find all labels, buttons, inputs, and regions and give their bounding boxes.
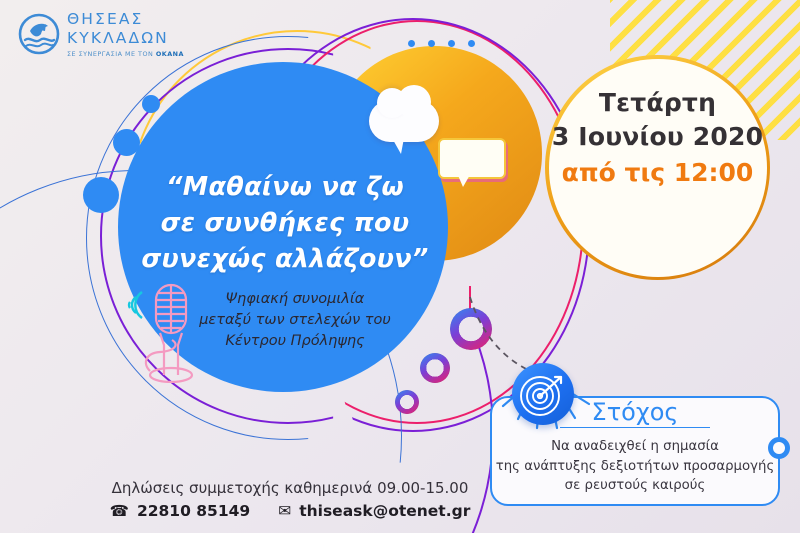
goal-card	[490, 396, 780, 506]
logo-tagline-brand: ΟΚΑΝΑ	[156, 50, 184, 58]
orange-sun-circle	[327, 46, 542, 261]
logo-tagline: ΣΕ ΣΥΝΕΡΓΑΣΙΑ ΜΕ ΤΟΝ ΟΚΑΝΑ	[67, 50, 184, 58]
subtitle-line-2: μεταξύ των στελεχών του	[180, 310, 410, 331]
blue-dot-small	[142, 95, 160, 113]
purple-arc-decoration	[100, 48, 476, 424]
goal-card-side-dot	[768, 437, 790, 459]
blue-arc-decoration	[86, 36, 490, 440]
cloud-speech-bubble-tail	[392, 138, 404, 154]
blue-dot-medium	[113, 129, 140, 156]
target-badge	[512, 363, 574, 425]
date-day: Τετάρτη	[545, 86, 770, 120]
date-badge: Τετάρτη 3 Ιουνίου 2020 από τις 12:00	[545, 86, 770, 192]
mini-dot-3	[448, 40, 455, 47]
organization-logo[interactable]: ΘΗΣΕΑΣ ΚΥΚΛΑΔΩΝ ΣΕ ΣΥΝΕΡΓΑΣΙΑ ΜΕ ΤΟΝ ΟΚΑ…	[18, 10, 184, 58]
registration-info: Δηλώσεις συμμετοχής καθημερινά 09.00-15.…	[95, 478, 485, 499]
goal-line-2: της ανάπτυξης δεξιοτήτων προσαρμογής	[494, 457, 776, 477]
purple-arc-decoration-2	[236, 18, 590, 432]
goal-line-3: σε ρευστούς καιρούς	[494, 476, 776, 496]
subtitle-line-3: Κέντρου Πρόληψης	[180, 331, 410, 352]
email-address[interactable]: thiseask@otenet.gr	[299, 502, 470, 520]
date-time: από τις 12:00	[545, 154, 770, 192]
rectangle-speech-bubble-icon	[438, 138, 506, 179]
gradient-ring-small	[395, 390, 419, 414]
poster-canvas: ΘΗΣΕΑΣ ΚΥΚΛΑΔΩΝ ΣΕ ΣΥΝΕΡΓΑΣΙΑ ΜΕ ΤΟΝ ΟΚΑ…	[0, 0, 800, 533]
large-purple-arc-decoration	[0, 150, 494, 533]
quote-line-3: συνεχώς αλλάζουν”	[140, 241, 430, 277]
blue-mini-dots-row	[408, 40, 475, 47]
blue-dot-large	[83, 177, 119, 213]
main-quote: “Μαθαίνω να ζω σε συνθήκες που συνεχώς α…	[140, 169, 430, 277]
phone-icon: ☎	[110, 502, 129, 520]
pink-arc-decoration	[250, 20, 584, 424]
microphone-icon	[140, 283, 210, 383]
dashed-connector-line	[468, 295, 578, 390]
quote-line-2: σε συνθήκες που	[140, 205, 430, 241]
logo-line-2: ΚΥΚΛΑΔΩΝ	[67, 29, 184, 48]
contact-row: ☎ 22810 85149 ✉ thiseask@otenet.gr	[95, 502, 485, 520]
blue-main-circle	[118, 62, 448, 392]
target-arrow-icon	[512, 363, 574, 425]
mini-dot-4	[468, 40, 475, 47]
quote-line-1: “Μαθαίνω να ζω	[140, 169, 430, 205]
mini-dot-2	[428, 40, 435, 47]
yellow-arc-decoration	[130, 30, 464, 364]
goal-description: Να αναδειχθεί η σημασία της ανάπτυξης δε…	[494, 437, 776, 496]
gradient-ring-medium	[420, 353, 450, 383]
phone-number[interactable]: 22810 85149	[137, 502, 250, 520]
ring-stem-line	[469, 286, 471, 312]
dolphin-wave-logo-icon	[18, 13, 60, 55]
logo-line-1: ΘΗΣΕΑΣ	[67, 10, 184, 29]
logo-tagline-prefix: ΣΕ ΣΥΝΕΡΓΑΣΙΑ ΜΕ ΤΟΝ	[67, 50, 156, 58]
goal-line-1: Να αναδειχθεί η σημασία	[494, 437, 776, 457]
gradient-ring-large	[450, 308, 492, 350]
event-subtitle: Ψηφιακή συνομιλία μεταξύ των στελεχών το…	[180, 289, 410, 352]
subtitle-line-1: Ψηφιακή συνομιλία	[180, 289, 410, 310]
cloud-speech-bubble-icon	[369, 100, 439, 142]
footer-contact: Δηλώσεις συμμετοχής καθημερινά 09.00-15.…	[95, 478, 485, 520]
email-icon: ✉	[278, 502, 291, 520]
goal-title: Στόχος	[560, 398, 710, 428]
target-rays-decoration	[493, 388, 613, 468]
rectangle-speech-bubble-tail	[457, 173, 471, 187]
large-blue-arc-decoration	[0, 170, 402, 533]
mini-dot-1	[408, 40, 415, 47]
date-full: 3 Ιουνίου 2020	[545, 120, 770, 154]
sound-waves-icon	[122, 288, 146, 322]
